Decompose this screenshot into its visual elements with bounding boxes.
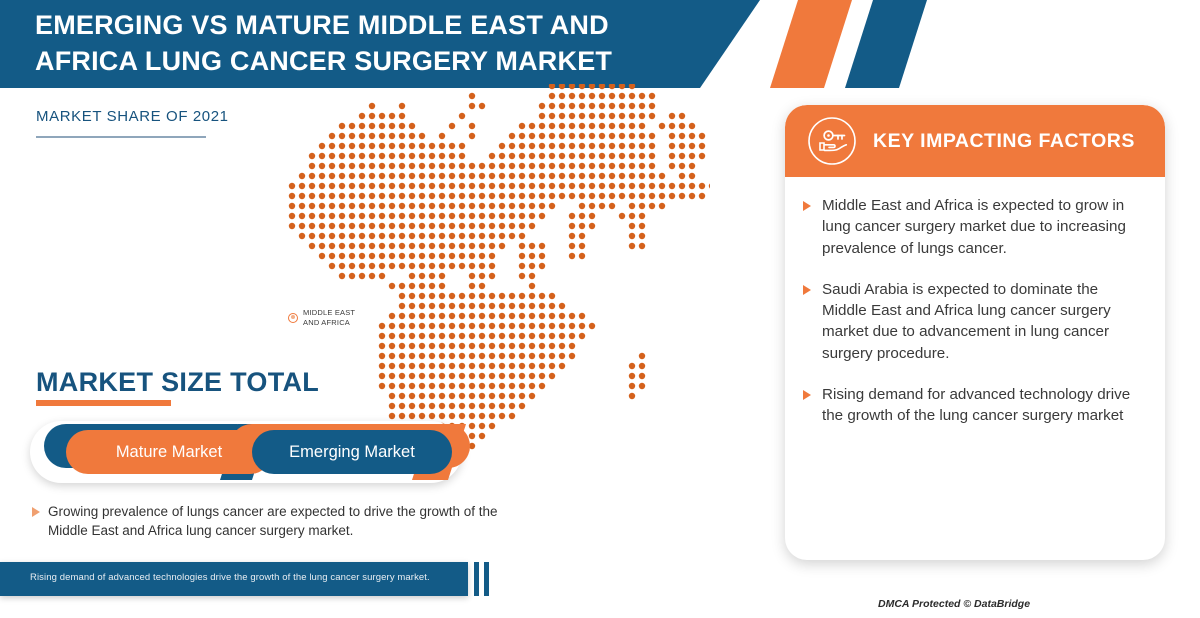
map-legend-line1: MIDDLE EAST bbox=[303, 308, 355, 317]
key-factor-text: Rising demand for advanced technology dr… bbox=[822, 384, 1143, 427]
triangle-bullet-icon bbox=[803, 285, 811, 295]
header-stripe-orange-icon bbox=[770, 0, 852, 88]
map-legend: MIDDLE EAST AND AFRICA bbox=[288, 308, 355, 328]
triangle-bullet-icon bbox=[803, 201, 811, 211]
dmca-footer: DMCA Protected © DataBridge bbox=[878, 598, 1030, 610]
market-size-title: MARKET SIZE TOTAL bbox=[36, 367, 319, 398]
key-factors-header: KEY IMPACTING FACTORS bbox=[785, 105, 1165, 177]
map-legend-label: MIDDLE EAST AND AFRICA bbox=[303, 308, 355, 328]
map-legend-line2: AND AFRICA bbox=[303, 318, 350, 327]
market-size-note: Growing prevalence of lungs cancer are e… bbox=[32, 503, 502, 540]
key-factors-title: KEY IMPACTING FACTORS bbox=[873, 130, 1135, 153]
mature-market-pill[interactable]: Mature Market bbox=[66, 430, 272, 474]
hand-holding-key-icon bbox=[807, 116, 857, 166]
bottom-banner-tick-2 bbox=[484, 562, 489, 596]
list-item: Saudi Arabia is expected to dominate the… bbox=[803, 279, 1143, 364]
market-size-note-text: Growing prevalence of lungs cancer are e… bbox=[48, 503, 502, 540]
list-item: Rising demand for advanced technology dr… bbox=[803, 384, 1143, 427]
emerging-market-pill[interactable]: Emerging Market bbox=[252, 430, 452, 474]
triangle-bullet-icon bbox=[803, 390, 811, 400]
page-title: EMERGING VS MATURE MIDDLE EAST AND AFRIC… bbox=[35, 8, 715, 80]
list-item: Middle East and Africa is expected to gr… bbox=[803, 195, 1143, 259]
bottom-banner-tick-1 bbox=[474, 562, 479, 596]
market-size-underline bbox=[36, 400, 171, 406]
circle-marker-icon bbox=[288, 313, 298, 323]
key-factor-text: Saudi Arabia is expected to dominate the… bbox=[822, 279, 1143, 364]
key-factors-list: Middle East and Africa is expected to gr… bbox=[785, 177, 1165, 447]
triangle-bullet-icon bbox=[32, 507, 40, 517]
market-pills-container: Mature Market Emerging Market bbox=[30, 421, 462, 483]
market-share-label: MARKET SHARE OF 2021 bbox=[36, 108, 229, 131]
key-factor-text: Middle East and Africa is expected to gr… bbox=[822, 195, 1143, 259]
dotted-world-map bbox=[280, 84, 710, 474]
market-share-underline bbox=[36, 136, 206, 138]
header-stripe-blue-icon bbox=[845, 0, 927, 88]
bottom-banner-text: Rising demand of advanced technologies d… bbox=[30, 572, 430, 583]
infographic-canvas: EMERGING VS MATURE MIDDLE EAST AND AFRIC… bbox=[0, 0, 1200, 618]
key-impacting-factors-panel: KEY IMPACTING FACTORS Middle East and Af… bbox=[785, 105, 1165, 560]
